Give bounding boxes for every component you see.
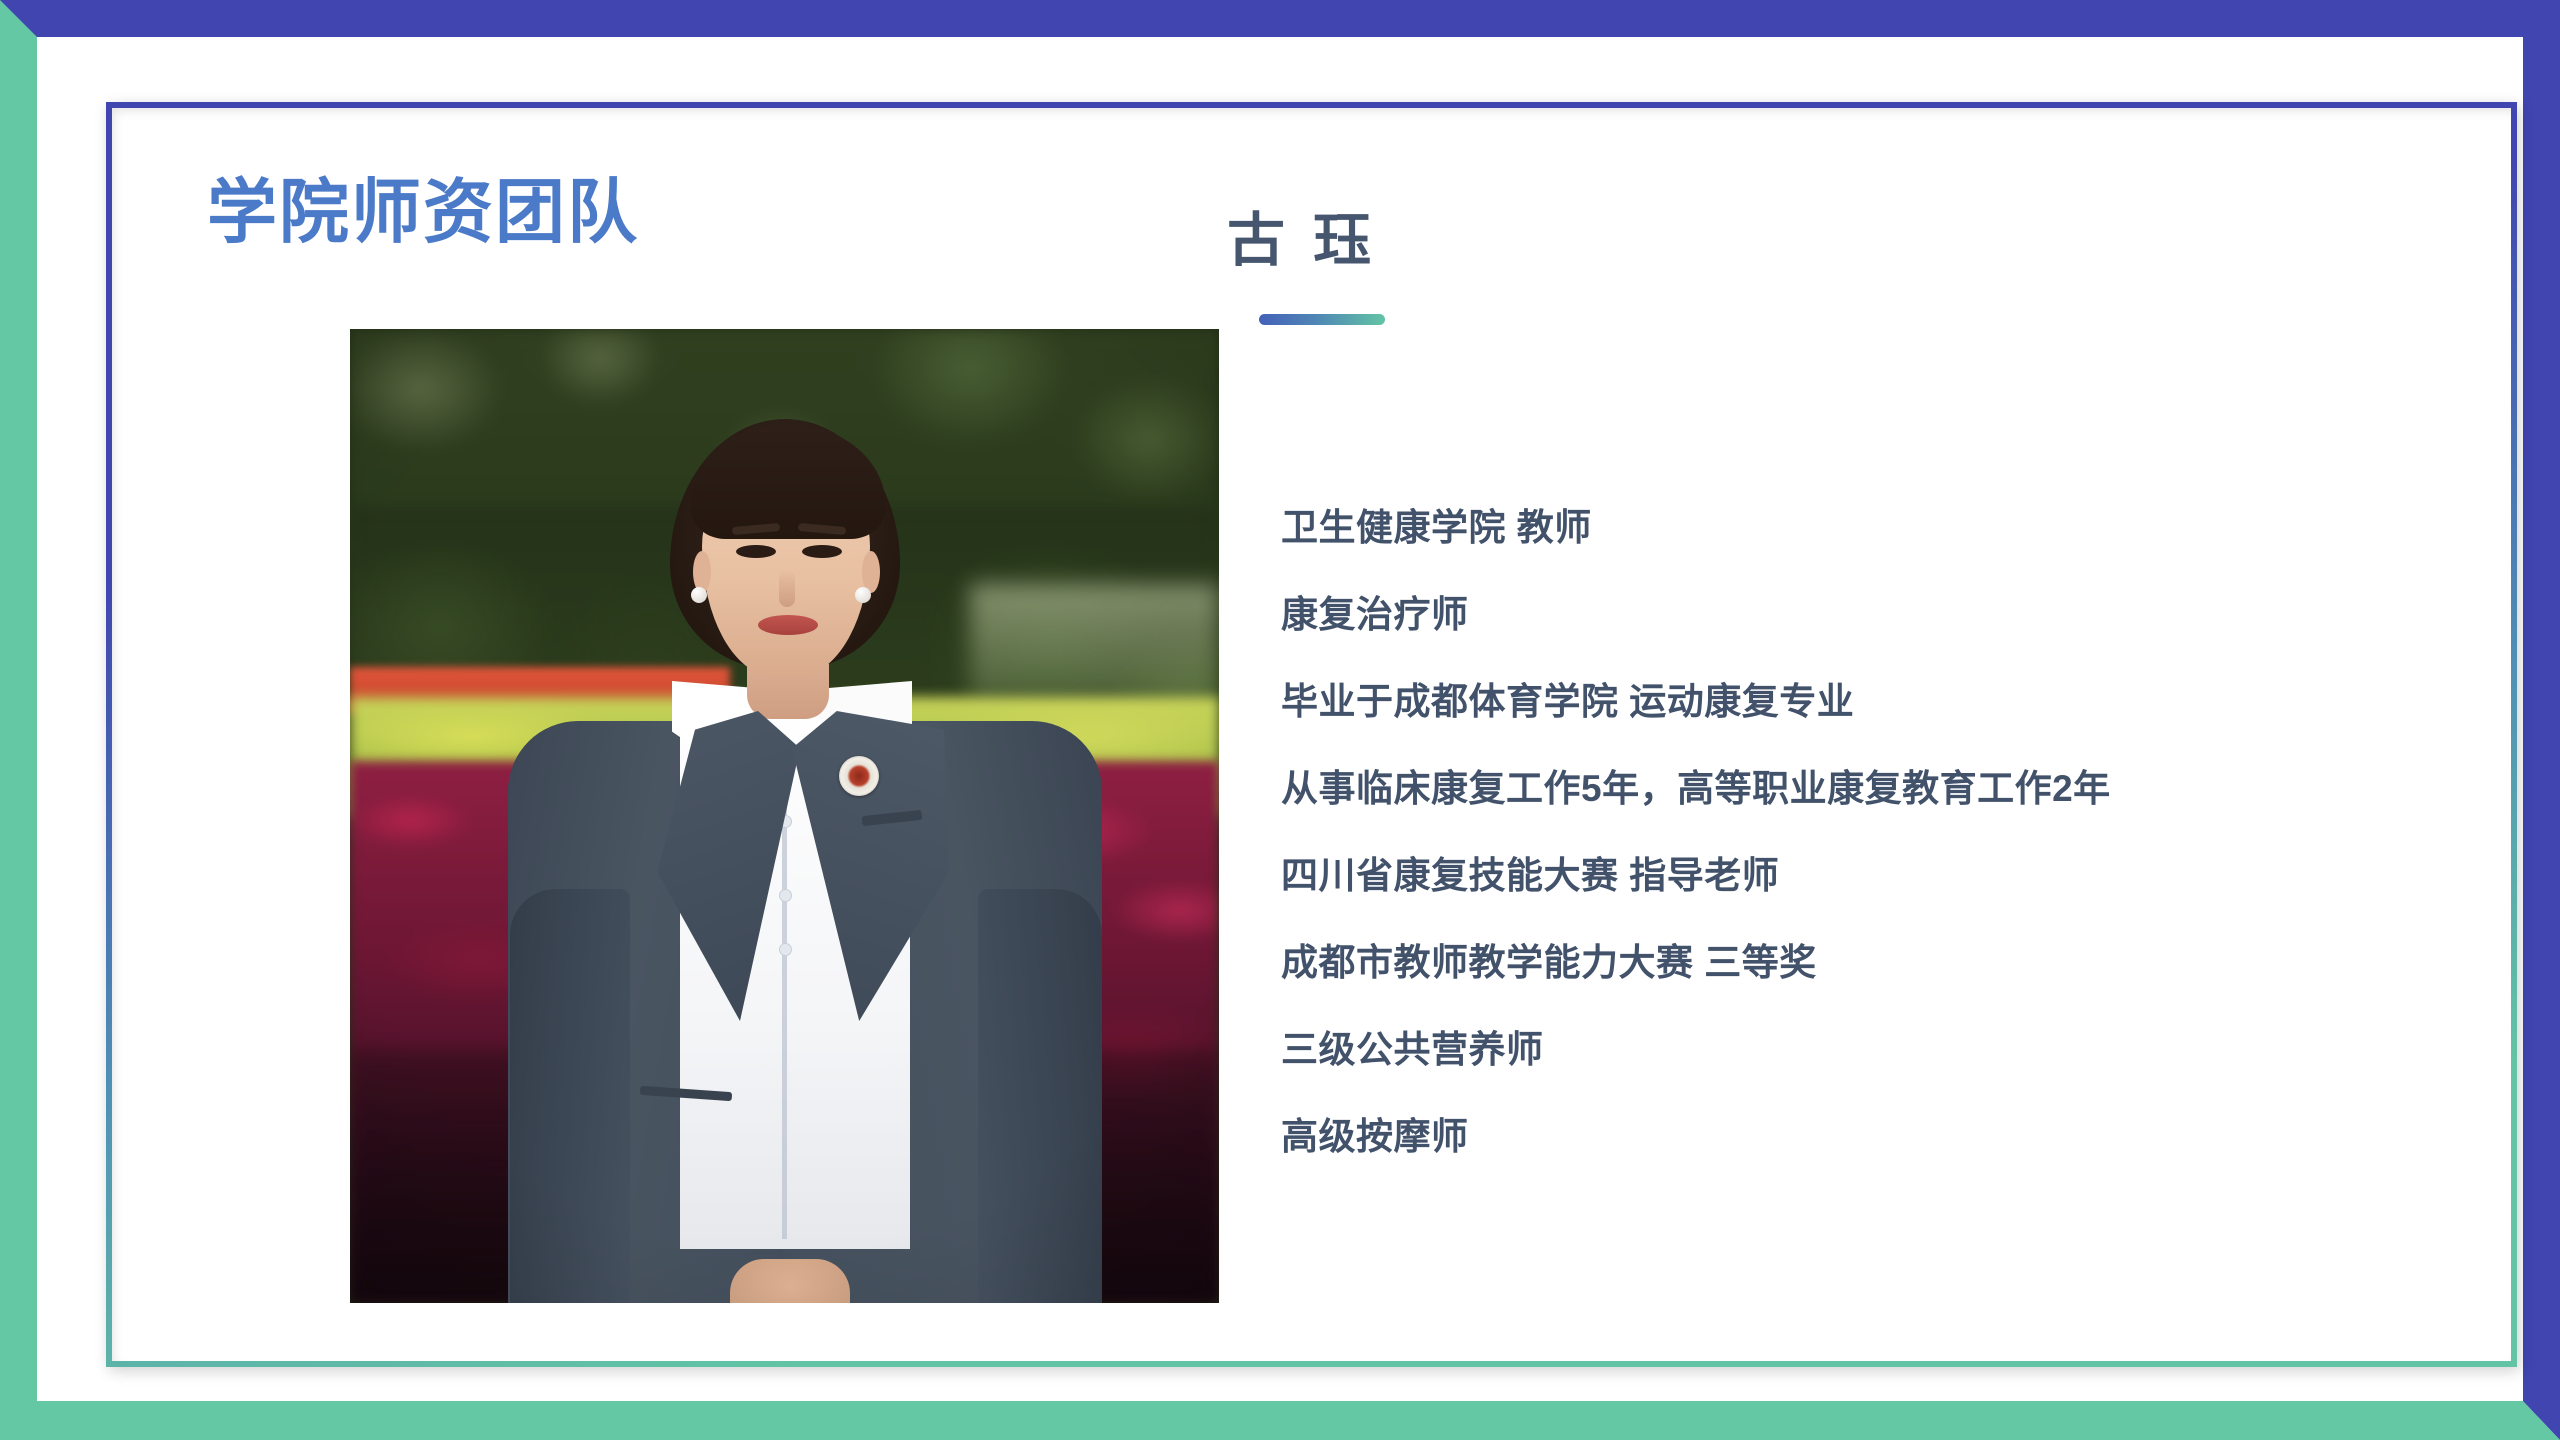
bio-line: 成都市教师教学能力大赛 三等奖 xyxy=(1281,944,2461,981)
bio-line: 毕业于成都体育学院 运动康复专业 xyxy=(1281,683,2461,720)
portrait-photo xyxy=(350,329,1219,1303)
bio-line: 康复治疗师 xyxy=(1281,596,2461,633)
name-underline-accent xyxy=(1259,314,1385,325)
section-title: 学院师资团队 xyxy=(207,177,639,247)
bio-line: 卫生健康学院 教师 xyxy=(1281,509,2461,546)
photo-vignette xyxy=(350,329,1219,1303)
bio-line: 三级公共营养师 xyxy=(1281,1031,2461,1068)
bio-line: 从事临床康复工作5年，高等职业康复教育工作2年 xyxy=(1281,770,2461,807)
page-card: 学院师资团队 古 珏 xyxy=(37,37,2523,1401)
bio-line: 高级按摩师 xyxy=(1281,1118,2461,1155)
person-name: 古 珏 xyxy=(1227,212,1377,270)
slide-canvas: 学院师资团队 古 珏 xyxy=(0,0,2560,1440)
bio-line: 四川省康复技能大赛 指导老师 xyxy=(1281,857,2461,894)
bio-list: 卫生健康学院 教师 康复治疗师 毕业于成都体育学院 运动康复专业 从事临床康复工… xyxy=(1281,509,2461,1205)
